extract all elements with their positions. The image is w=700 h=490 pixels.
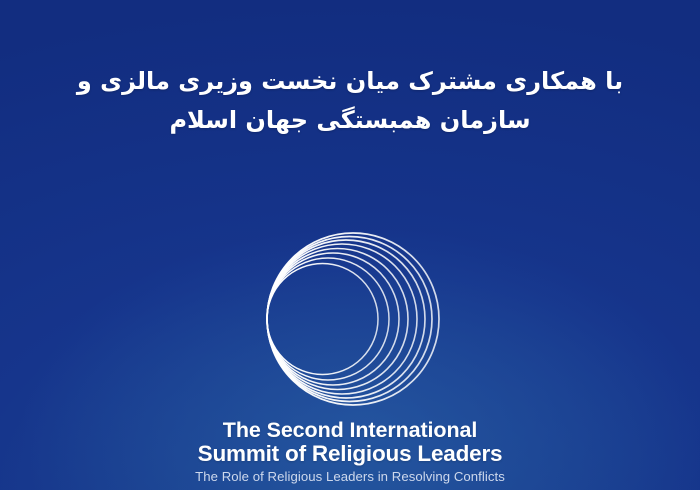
english-title-block: The Second International Summit of Relig… xyxy=(0,419,700,484)
title-line-2: Summit of Religious Leaders xyxy=(0,442,700,466)
poster-canvas: با همکاری مشترک میان نخست وزیری مالزی و … xyxy=(0,0,700,490)
title-subtitle: The Role of Religious Leaders in Resolvi… xyxy=(0,469,700,484)
spiral-circles-logo-icon xyxy=(258,226,446,412)
summit-logo xyxy=(258,226,446,412)
title-line-1: The Second International xyxy=(0,419,700,442)
farsi-heading-line-2: سازمان همبستگی جهان اسلام xyxy=(0,101,700,140)
farsi-heading: با همکاری مشترک میان نخست وزیری مالزی و … xyxy=(0,62,700,140)
farsi-heading-line-1: با همکاری مشترک میان نخست وزیری مالزی و xyxy=(0,62,700,101)
